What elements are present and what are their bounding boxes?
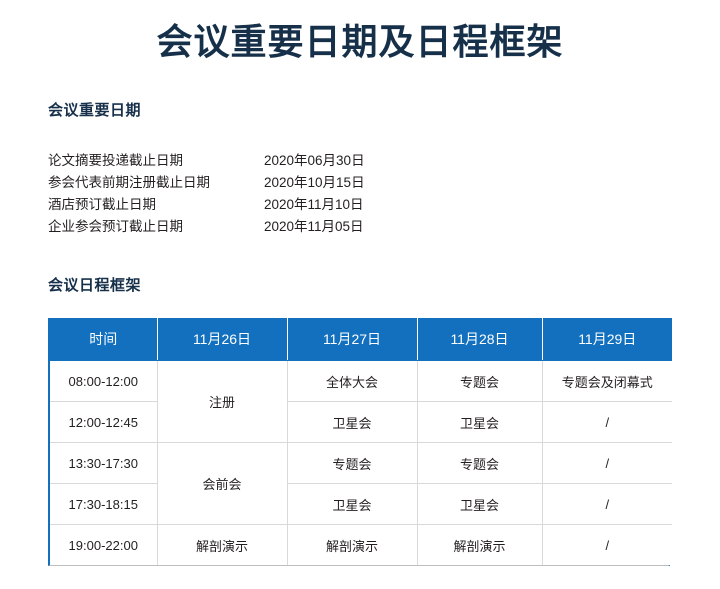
cell-time: 12:00-12:45 [50,402,157,443]
column-header-day-3: 11月28日 [417,318,542,361]
column-header-day-1: 11月26日 [157,318,287,361]
cell-day-1: 注册 [157,361,287,443]
cell-time: 19:00-22:00 [50,525,157,566]
table-row: 08:00-12:00 注册 全体大会 专题会 专题会及闭幕式 [50,361,672,402]
table-row: 19:00-22:00 解剖演示 解剖演示 解剖演示 / [50,525,672,566]
important-dates-list: 论文摘要投递截止日期 2020年06月30日 参会代表前期注册截止日期 2020… [48,150,468,238]
cell-day-2: 卫星会 [287,484,417,525]
section-heading-schedule: 会议日程框架 [48,275,141,297]
list-item: 企业参会预订截止日期 2020年11月05日 [48,216,468,238]
section-heading-important-dates: 会议重要日期 [48,100,141,122]
date-value: 2020年11月10日 [264,194,364,216]
cell-day-3: 卫星会 [417,484,542,525]
cell-day-2: 专题会 [287,443,417,484]
cell-day-4: 专题会及闭幕式 [542,361,672,402]
cell-day-4: / [542,443,672,484]
table-row: 13:30-17:30 会前会 专题会 专题会 / [50,443,672,484]
cell-day-3: 专题会 [417,361,542,402]
date-label: 酒店预订截止日期 [48,194,264,216]
cell-time: 13:30-17:30 [50,443,157,484]
cell-day-1: 解剖演示 [157,525,287,566]
cell-day-2: 全体大会 [287,361,417,402]
schedule-table-wrapper: 时间 11月26日 11月27日 11月28日 11月29日 08:00-12:… [48,318,670,566]
table-header-row: 时间 11月26日 11月27日 11月28日 11月29日 [50,318,672,361]
table-row: 17:30-18:15 卫星会 卫星会 / [50,484,672,525]
column-header-day-4: 11月29日 [542,318,672,361]
date-value: 2020年10月15日 [264,172,365,194]
column-header-day-2: 11月27日 [287,318,417,361]
cell-day-4: / [542,402,672,443]
schedule-table-frame: 时间 11月26日 11月27日 11月28日 11月29日 08:00-12:… [48,318,670,566]
cell-day-1: 会前会 [157,443,287,525]
date-label: 企业参会预订截止日期 [48,216,264,238]
column-header-time: 时间 [50,318,157,361]
table-row: 12:00-12:45 卫星会 卫星会 / [50,402,672,443]
cell-day-4: / [542,525,672,566]
list-item: 酒店预订截止日期 2020年11月10日 [48,194,468,216]
list-item: 参会代表前期注册截止日期 2020年10月15日 [48,172,468,194]
cell-day-3: 解剖演示 [417,525,542,566]
cell-day-3: 卫星会 [417,402,542,443]
cell-day-3: 专题会 [417,443,542,484]
cell-time: 08:00-12:00 [50,361,157,402]
cell-day-2: 卫星会 [287,402,417,443]
cell-day-4: / [542,484,672,525]
cell-time: 17:30-18:15 [50,484,157,525]
date-value: 2020年11月05日 [264,216,364,238]
page-title: 会议重要日期及日程框架 [0,18,720,66]
schedule-table: 时间 11月26日 11月27日 11月28日 11月29日 08:00-12:… [50,318,672,565]
date-label: 论文摘要投递截止日期 [48,150,264,172]
date-value: 2020年06月30日 [264,150,365,172]
cell-day-2: 解剖演示 [287,525,417,566]
document-page: 会议重要日期及日程框架 会议重要日期 论文摘要投递截止日期 2020年06月30… [0,0,720,589]
list-item: 论文摘要投递截止日期 2020年06月30日 [48,150,468,172]
date-label: 参会代表前期注册截止日期 [48,172,264,194]
